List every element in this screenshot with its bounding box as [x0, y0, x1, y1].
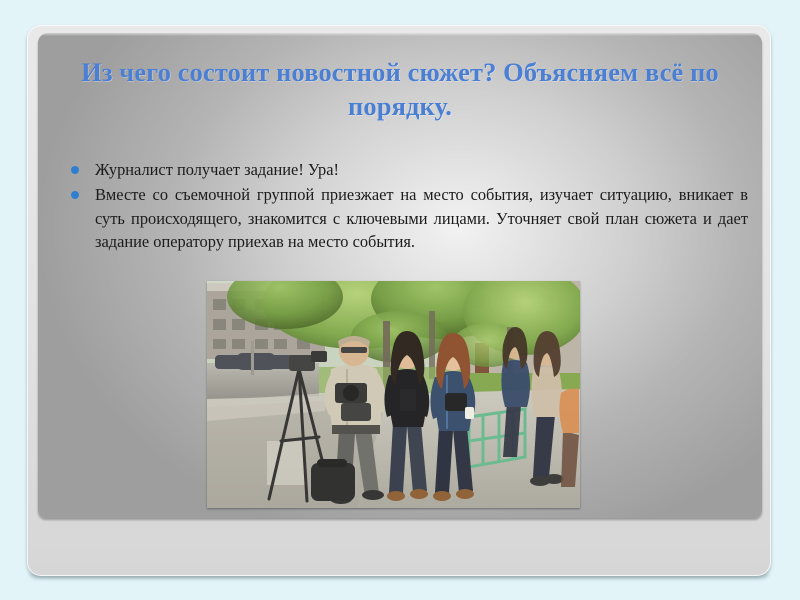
photo-illustration — [207, 281, 580, 508]
page-title: Из чего состоит новостной сюжет? Объясня… — [56, 55, 744, 124]
slide-frame: Из чего состоит новостной сюжет? Объясня… — [27, 25, 771, 576]
slide-photo — [207, 281, 580, 508]
list-item-text: Журналист получает задание! Ура! — [95, 158, 748, 181]
list-item: Вместе со съемочной группой приезжает на… — [58, 183, 748, 253]
list-item-text: Вместе со съемочной группой приезжает на… — [95, 183, 748, 253]
bullet-list: Журналист получает задание! Ура! Вместе … — [58, 158, 748, 256]
bullet-dot-icon — [71, 191, 79, 199]
slide-content-panel: Из чего состоит новостной сюжет? Объясня… — [38, 33, 762, 518]
bullet-dot-icon — [71, 166, 79, 174]
list-item: Журналист получает задание! Ура! — [58, 158, 748, 181]
